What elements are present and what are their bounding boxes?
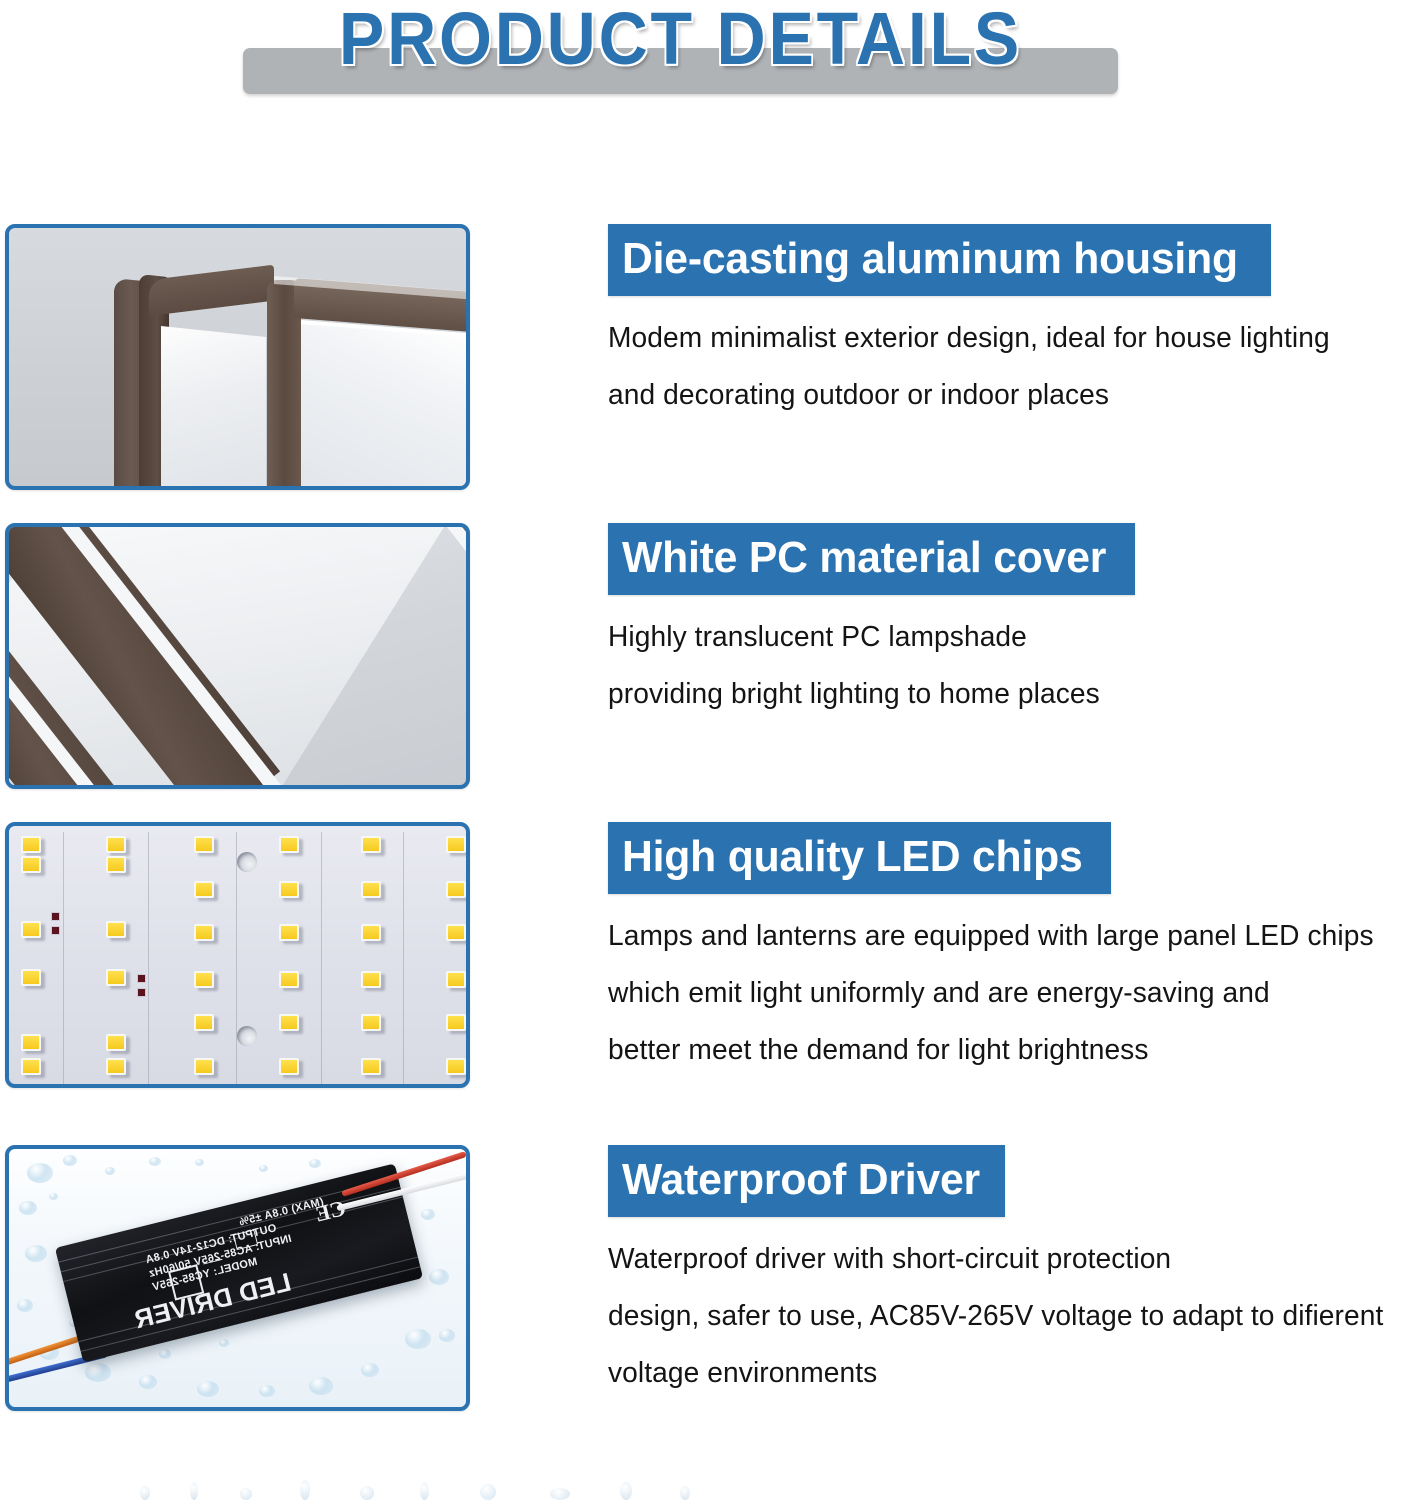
led-chip (446, 836, 466, 853)
feature-body-3-line-3: better meet the demand for light brightn… (608, 1022, 1374, 1079)
led-chip (279, 836, 299, 853)
water-droplet (49, 1193, 58, 1200)
feature-row-white-pc-material-cover: White PC material cover Highly transluce… (0, 523, 1401, 791)
led-chip (106, 969, 126, 986)
led-chip (21, 1034, 41, 1051)
water-droplet (105, 1167, 115, 1175)
led-chip (446, 1058, 466, 1075)
water-droplet (309, 1377, 333, 1395)
water-droplet (429, 1269, 449, 1285)
water-droplet (405, 1329, 431, 1349)
water-droplet (300, 1480, 310, 1500)
led-chip (446, 924, 466, 941)
led-chip (361, 836, 381, 853)
water-droplet (219, 1339, 229, 1347)
feature-body-4: Waterproof driver with short-circuit pro… (608, 1231, 1401, 1402)
led-chip (194, 836, 214, 853)
feature-body-2-line-2: providing bright lighting to home places (608, 666, 1119, 723)
water-droplet (27, 1163, 53, 1183)
water-droplet (620, 1482, 632, 1500)
water-droplet (17, 1299, 33, 1312)
feature-body-3-line-2: which emit light uniformly and are energ… (608, 965, 1374, 1022)
mounting-hole (237, 1026, 257, 1046)
led-chip (21, 1058, 41, 1075)
led-chip (279, 924, 299, 941)
feature-body-3-line-1: Lamps and lanterns are equipped with lar… (608, 908, 1374, 965)
product-image-waterproof-driver: CE LED DRIVER MODEL: YC85-265V INPUT: AC… (5, 1145, 470, 1411)
water-droplet (360, 1486, 374, 1500)
water-droplet (25, 1245, 47, 1262)
water-droplet (361, 1363, 379, 1377)
housing-top-frame-left (149, 265, 274, 316)
pcb-trace (148, 832, 149, 1086)
water-droplet (550, 1488, 570, 1500)
water-droplet (139, 1375, 157, 1389)
housing-panel-left (161, 326, 266, 490)
feature-body-2-line-1: Highly translucent PC lampshade (608, 609, 1119, 666)
pcb-resistor (51, 926, 60, 935)
pcb-trace (321, 832, 322, 1086)
water-droplet (420, 1482, 429, 1500)
led-chip (361, 971, 381, 988)
feature-row-die-casting-aluminum-housing: Die-casting aluminum housing Modem minim… (0, 224, 1401, 492)
led-chip (279, 1014, 299, 1031)
water-droplet (259, 1385, 275, 1397)
led-chip (361, 881, 381, 898)
water-droplet (159, 1349, 171, 1359)
led-chip (194, 924, 214, 941)
pcb-resistor (137, 974, 146, 983)
feature-text-aluminum-housing: Die-casting aluminum housing Modem minim… (608, 224, 1352, 424)
pcb-resistor (51, 912, 60, 921)
feature-body-4-line-3: voltage environments (608, 1345, 1383, 1402)
water-droplet (309, 1159, 321, 1168)
feature-body-1-line-1: Modem minimalist exterior design, ideal … (608, 310, 1330, 367)
led-chip (446, 881, 466, 898)
feature-heading-banner-2: White PC material cover (608, 523, 1135, 595)
mounting-hole (237, 852, 257, 872)
product-image-aluminum-housing (5, 224, 470, 490)
pcb-resistor (137, 988, 146, 997)
water-droplet (680, 1486, 690, 1500)
pcb-trace (63, 832, 64, 1086)
water-droplet (439, 1329, 455, 1342)
feature-row-high-quality-led-chips: High quality LED chips Lamps and lantern… (0, 822, 1401, 1090)
feature-row-waterproof-driver: CE LED DRIVER MODEL: YC85-265V INPUT: AC… (0, 1145, 1401, 1413)
led-chip (106, 921, 126, 938)
feature-text-led-chips: High quality LED chips Lamps and lantern… (608, 822, 1397, 1079)
water-droplet (259, 1165, 268, 1172)
led-chip (279, 881, 299, 898)
led-chip (194, 881, 214, 898)
led-chip-grid (9, 826, 466, 1084)
feature-list: Die-casting aluminum housing Modem minim… (0, 0, 1401, 1500)
feature-heading-banner-1: Die-casting aluminum housing (608, 224, 1271, 296)
feature-body-3: Lamps and lanterns are equipped with lar… (608, 908, 1397, 1079)
water-droplet (480, 1484, 496, 1500)
product-image-led-board (5, 822, 470, 1088)
driver-max-text: (MAX) 0.8A ±5% (238, 1196, 325, 1229)
water-droplet (85, 1363, 111, 1382)
feature-text-pc-cover: White PC material cover Highly transluce… (608, 523, 1135, 723)
feature-text-waterproof-driver: Waterproof Driver Waterproof driver with… (608, 1145, 1401, 1402)
product-image-pc-cover (5, 523, 470, 789)
bottom-water-splash-bleed (120, 1472, 740, 1500)
led-chip (106, 1034, 126, 1051)
led-chip (446, 971, 466, 988)
feature-heading-1: Die-casting aluminum housing (622, 230, 1238, 288)
feature-heading-3: High quality LED chips (622, 828, 1083, 886)
water-droplet (190, 1482, 198, 1500)
led-chip (194, 1058, 214, 1075)
feature-body-4-line-1: Waterproof driver with short-circuit pro… (608, 1231, 1383, 1288)
water-droplet (197, 1381, 219, 1397)
led-chip (21, 836, 41, 853)
led-chip (361, 1058, 381, 1075)
housing-panel-right (301, 324, 470, 490)
led-chip (21, 969, 41, 986)
led-chip (106, 1058, 126, 1075)
led-chip (106, 836, 126, 853)
led-chip (361, 1014, 381, 1031)
pcb-trace (236, 832, 237, 1086)
water-droplet (19, 1201, 37, 1215)
led-chip (361, 924, 381, 941)
water-droplet (421, 1209, 435, 1220)
feature-body-2: Highly translucent PC lampshade providin… (608, 609, 1135, 723)
led-chip (21, 856, 41, 873)
water-droplet (195, 1159, 204, 1166)
feature-body-4-line-2: design, safer to use, AC85V-265V voltage… (608, 1288, 1383, 1345)
feature-heading-2: White PC material cover (622, 529, 1106, 587)
water-droplet (149, 1157, 161, 1166)
led-chip (446, 1014, 466, 1031)
feature-body-1-line-2: and decorating outdoor or indoor places (608, 367, 1330, 424)
water-droplet (240, 1488, 252, 1500)
led-chip (21, 921, 41, 938)
pcb-trace (403, 832, 404, 1086)
feature-body-1: Modem minimalist exterior design, ideal … (608, 310, 1352, 424)
led-chip (279, 1058, 299, 1075)
led-chip (194, 971, 214, 988)
led-chip (106, 856, 126, 873)
water-droplet (63, 1155, 77, 1166)
feature-heading-4: Waterproof Driver (622, 1151, 980, 1209)
led-chip (279, 971, 299, 988)
feature-heading-banner-4: Waterproof Driver (608, 1145, 1005, 1217)
led-chip (194, 1014, 214, 1031)
feature-heading-banner-3: High quality LED chips (608, 822, 1111, 894)
water-droplet (140, 1486, 150, 1500)
